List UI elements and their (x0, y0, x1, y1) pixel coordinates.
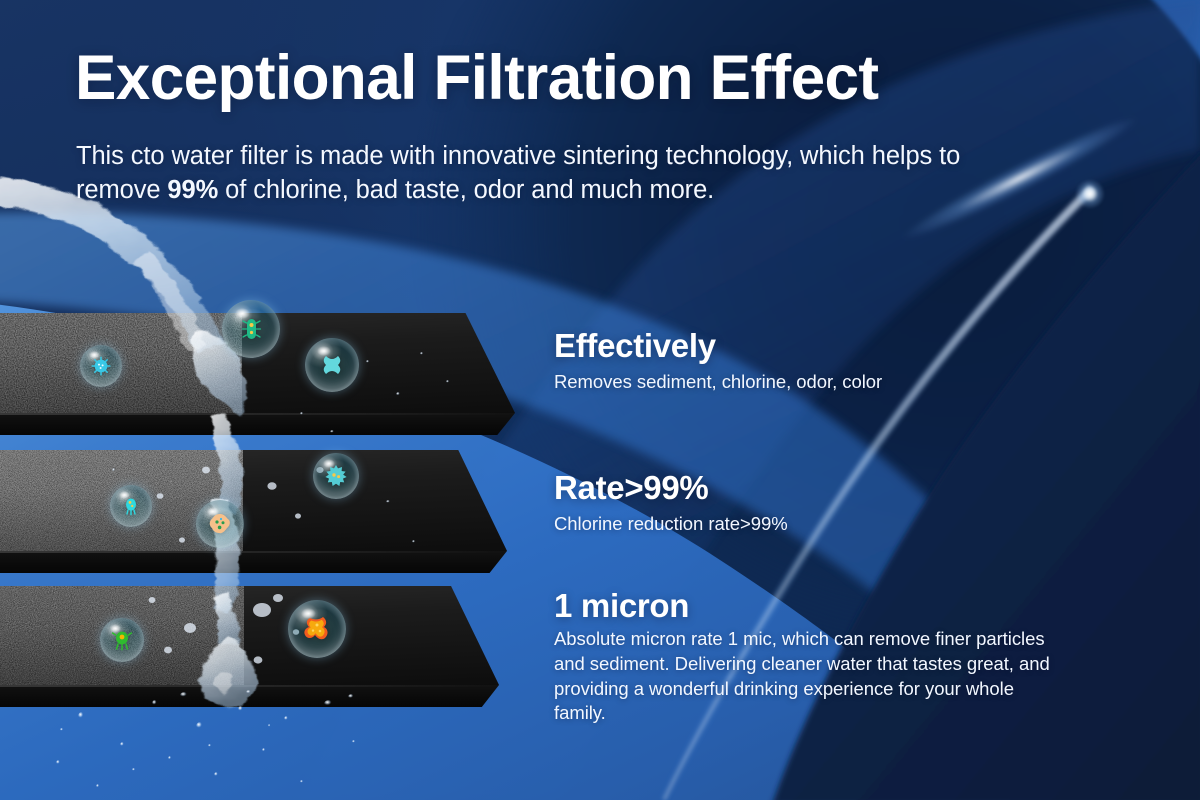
feature-title: 1 micron (554, 588, 1069, 625)
feature-body: Chlorine reduction rate>99% (554, 512, 788, 537)
feature-title: Rate>99% (554, 470, 788, 507)
microbe-icon (119, 494, 143, 518)
bubble-microbe-2 (110, 485, 152, 527)
infographic-canvas: Exceptional Filtration Effect This cto w… (0, 0, 1200, 800)
bubble-virus-1 (80, 345, 122, 387)
feature-body: Absolute micron rate 1 mic, which can re… (554, 627, 1069, 726)
bubble-bacteria-x-1 (305, 338, 359, 392)
page-subtitle: This cto water filter is made with innov… (76, 140, 1036, 208)
subtitle-part-2: of chlorine, bad taste, odor and much mo… (218, 176, 714, 204)
bubble-virus-spiky-2 (313, 453, 359, 499)
filter-layer-top-edge (0, 413, 515, 435)
filter-layer-middle-sheen (0, 450, 507, 551)
filter-layer-bottom-sheen (0, 586, 499, 685)
bubble-germ-3 (100, 618, 144, 662)
feature-block-effectively: Effectively Removes sediment, chlorine, … (554, 328, 882, 395)
filter-layer-bottom-edge-highlight (0, 685, 499, 687)
virus-spiky-icon (323, 463, 349, 489)
filter-layer-top-edge-highlight (0, 413, 515, 415)
bacteria-x-icon (317, 350, 347, 380)
filter-layer-middle-surface (0, 450, 507, 551)
subtitle-emphasis: 99% (167, 176, 218, 204)
bubble-blob-3 (288, 600, 346, 658)
feature-block-rate: Rate>99% Chlorine reduction rate>99% (554, 470, 788, 537)
filter-layer-middle (0, 450, 507, 551)
filter-layer-middle-edge-highlight (0, 551, 507, 553)
virus-icon (89, 354, 113, 378)
amoeba-icon (206, 510, 234, 538)
bubble-bacterium-1 (222, 300, 280, 358)
blob-icon (300, 612, 334, 646)
filter-layer-middle-edge (0, 551, 507, 573)
page-title: Exceptional Filtration Effect (75, 42, 878, 114)
filter-layer-bottom-edge (0, 685, 499, 707)
feature-body: Removes sediment, chlorine, odor, color (554, 370, 882, 395)
light-flare-core (1075, 179, 1105, 209)
feature-block-micron: 1 micron Absolute micron rate 1 mic, whi… (554, 588, 1069, 726)
filter-layer-bottom-surface (0, 586, 499, 685)
feature-title: Effectively (554, 328, 882, 365)
germ-icon (109, 627, 135, 653)
bacterium-icon (236, 314, 266, 344)
filter-layer-bottom (0, 586, 499, 685)
bubble-amoeba-2 (196, 500, 244, 548)
